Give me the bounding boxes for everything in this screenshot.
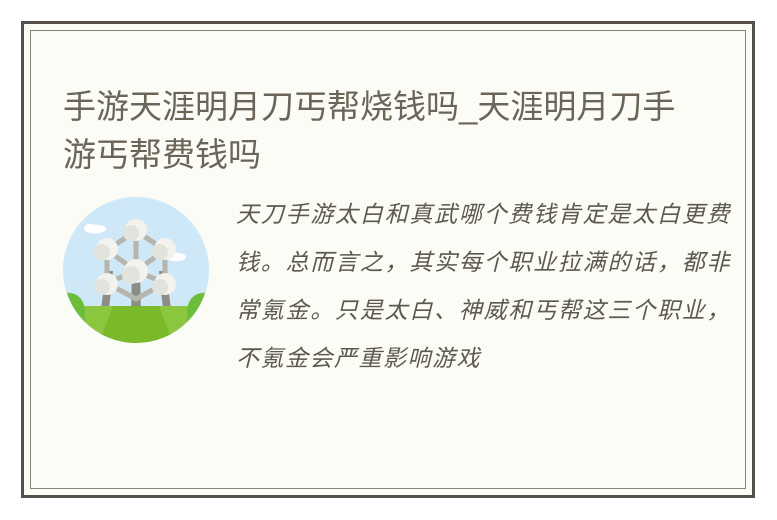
atomium-monument-icon — [63, 197, 209, 343]
bush-right — [187, 293, 209, 343]
article-body-column: 天刀手游太白和真武哪个费钱肯定是太白更费钱。总而言之，其实每个职业拉满的话，都非… — [236, 191, 731, 463]
page-frame-inner-border: 手游天涯明月刀丐帮烧钱吗_天涯明月刀手游丐帮费钱吗 — [30, 30, 746, 489]
article-body-text: 天刀手游太白和真武哪个费钱肯定是太白更费钱。总而言之，其实每个职业拉满的话，都非… — [236, 191, 731, 383]
bush-left — [63, 293, 85, 343]
article-content-row: 天刀手游太白和真武哪个费钱肯定是太白更费钱。总而言之，其实每个职业拉满的话，都非… — [63, 191, 731, 488]
page-title: 手游天涯明月刀丐帮烧钱吗_天涯明月刀手游丐帮费钱吗 — [63, 83, 683, 179]
article-thumbnail — [63, 197, 209, 343]
page-frame: 手游天涯明月刀丐帮烧钱吗_天涯明月刀手游丐帮费钱吗 — [21, 21, 755, 498]
